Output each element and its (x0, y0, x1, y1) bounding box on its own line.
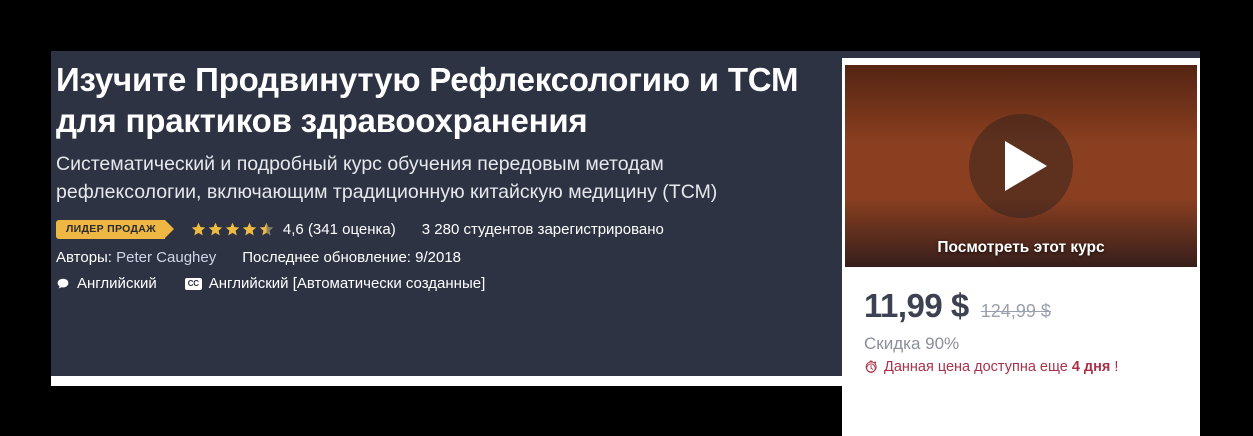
author-link[interactable]: Peter Caughey (116, 249, 216, 266)
last-update: Последнее обновление: 9/2018 (242, 249, 461, 266)
timer-suffix: ! (1114, 359, 1118, 375)
students-count: 3 280 студентов зарегистрировано (422, 221, 664, 238)
cc-icon: CC (185, 278, 202, 290)
current-price: 11,99 $ (864, 287, 969, 325)
price-block: 11,99 $ 124,99 $ Скидка 90% Данная цена … (842, 267, 1200, 375)
discount-label: Скидка 90% (864, 325, 1200, 354)
languages-row: Английский CC Английский [Автоматически … (56, 266, 846, 292)
bestseller-badge: ЛИДЕР ПРОДАЖ (56, 220, 165, 239)
course-info-column: Изучите Продвинутую Рефлексологию и ТСМ … (56, 51, 846, 292)
original-price: 124,99 $ (981, 301, 1051, 322)
caption-language-group: CC Английский [Автоматически созданные] (185, 275, 485, 292)
star-icon (242, 222, 257, 237)
audio-language-group: Английский (56, 275, 157, 292)
star-icon (208, 222, 223, 237)
star-half-icon (259, 222, 274, 237)
authors-row: Авторы: Peter Caughey Последнее обновлен… (56, 240, 846, 266)
speech-bubble-icon (56, 277, 70, 291)
page-title: Изучите Продвинутую Рефлексологию и ТСМ … (56, 51, 846, 141)
authors-label: Авторы: (56, 249, 112, 266)
course-preview-video[interactable]: Посмотреть этот курс (845, 65, 1197, 267)
course-subtitle: Систематический и подробный курс обучени… (56, 141, 801, 206)
price-timer: Данная цена доступна еще 4 дня ! (864, 354, 1200, 375)
rating-row: ЛИДЕР ПРОДАЖ 4,6 (341 оценка) 3 280 студ… (56, 206, 846, 240)
timer-prefix: Данная цена доступна еще (884, 359, 1068, 375)
timer-amount: 4 дня (1072, 359, 1111, 375)
play-button[interactable] (969, 114, 1073, 218)
stopwatch-icon (864, 360, 878, 374)
rating-stars (191, 222, 274, 237)
caption-language-label: Английский [Автоматически созданные] (209, 275, 485, 292)
price-line: 11,99 $ 124,99 $ (864, 287, 1200, 325)
page-root: Изучите Продвинутую Рефлексологию и ТСМ … (0, 0, 1253, 436)
star-icon (225, 222, 240, 237)
star-icon (191, 222, 206, 237)
audio-language-label: Английский (77, 275, 157, 292)
authors-group: Авторы: Peter Caughey (56, 249, 216, 266)
preview-caption: Посмотреть этот курс (845, 239, 1197, 257)
play-icon (1005, 141, 1047, 191)
rating-value: 4,6 (341 оценка) (283, 221, 396, 238)
purchase-card: Посмотреть этот курс 11,99 $ 124,99 $ Ск… (842, 58, 1200, 436)
